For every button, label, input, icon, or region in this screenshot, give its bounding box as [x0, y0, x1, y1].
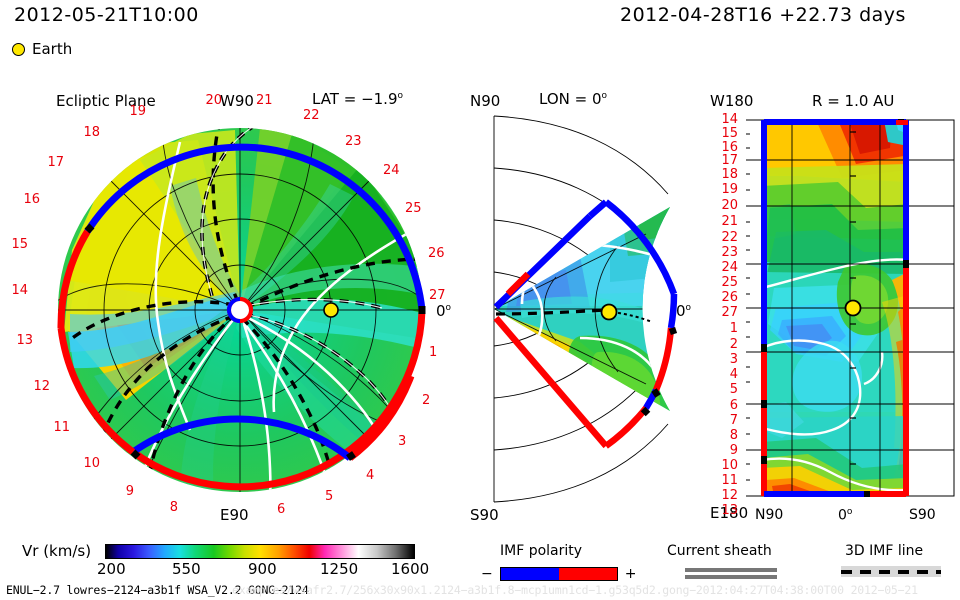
radial-ytick-17: 17 [702, 153, 738, 168]
radial-xtick-0-value: 0 [838, 508, 847, 524]
ecliptic-tick-22: 22 [303, 108, 323, 123]
radial-ytick-5: 5 [702, 382, 738, 397]
radial-ytick-13: 13 [702, 503, 738, 518]
colorbar-tick-550: 550 [172, 560, 201, 578]
ecliptic-tick-1: 1 [429, 345, 443, 360]
colorbar-label: Vr (km/s) [22, 542, 91, 560]
ecliptic-tick-26: 26 [428, 246, 448, 261]
ecliptic-tick-16: 16 [20, 192, 40, 207]
radial-ytick-9: 9 [702, 443, 738, 458]
radial-shell-plot[interactable] [746, 112, 960, 504]
current-sheath-title: Current sheath [667, 543, 772, 559]
ecliptic-tick-17: 17 [44, 155, 64, 170]
ecliptic-tick-2: 2 [422, 393, 436, 408]
ecliptic-tick-27: 27 [429, 288, 449, 303]
radial-ytick-22: 22 [702, 230, 738, 245]
radial-ytick-20: 20 [702, 198, 738, 213]
ecliptic-tick-13: 13 [13, 333, 33, 348]
ecliptic-tick-12: 12 [30, 379, 50, 394]
ecliptic-tick-21: 21 [256, 93, 274, 108]
radial-xtick-0: 0o [838, 507, 852, 524]
polarity-plus-label: + [625, 566, 637, 582]
radial-top-left-label: W180 [710, 92, 753, 110]
radial-ytick-10: 10 [702, 458, 738, 473]
ecliptic-tick-9: 9 [120, 484, 134, 499]
radial-ytick-11: 11 [702, 473, 738, 488]
sheath-line-bottom [685, 575, 777, 579]
ecliptic-tick-11: 11 [50, 420, 70, 435]
imf-polarity-legend: − + [481, 566, 636, 582]
radial-ytick-3: 3 [702, 352, 738, 367]
radial-ytick-23: 23 [702, 245, 738, 260]
radial-ytick-1: 1 [702, 321, 738, 336]
sheath-line-top [685, 568, 777, 572]
radial-ytick-4: 4 [702, 367, 738, 382]
degree-sign: o [686, 303, 692, 313]
ecliptic-tick-5: 5 [325, 489, 339, 504]
imf-line-legend-swatch [841, 566, 941, 577]
radial-ytick-6: 6 [702, 398, 738, 413]
radial-ytick-19: 19 [702, 182, 738, 197]
radial-xtick-n90: N90 [755, 507, 783, 523]
ecliptic-tick-25: 25 [405, 201, 425, 216]
degree-sign: o [602, 91, 608, 101]
ecliptic-tick-8: 8 [164, 500, 178, 515]
polarity-positive-swatch [559, 568, 617, 580]
polarity-minus-label: − [481, 566, 493, 582]
imf-dashed-sample [841, 570, 941, 574]
radial-xtick-s90: S90 [909, 507, 936, 523]
radial-title: R = 1.0 AU [812, 92, 894, 110]
colorbar-tick-900: 900 [248, 560, 277, 578]
radial-ytick-18: 18 [702, 167, 738, 182]
ecliptic-tick-23: 23 [345, 134, 365, 149]
radial-ytick-8: 8 [702, 428, 738, 443]
ecliptic-tick-20: 20 [204, 93, 222, 108]
imf-polarity-title: IMF polarity [500, 543, 582, 559]
ecliptic-tick-24: 24 [383, 163, 403, 178]
ecliptic-tick-14: 14 [8, 283, 28, 298]
radial-ytick-7: 7 [702, 413, 738, 428]
radial-ytick-15: 15 [702, 126, 738, 141]
polarity-color-bar [500, 567, 618, 581]
earth-legend-label: Earth [32, 40, 72, 58]
colorbar [105, 544, 415, 559]
earth-marker-icon [12, 43, 25, 56]
degree-sign: o [847, 507, 853, 517]
radial-ytick-12: 12 [702, 488, 738, 503]
radial-ytick-14: 14 [702, 112, 738, 127]
ecliptic-tick-3: 3 [398, 434, 412, 449]
meridional-plane-plot[interactable] [460, 106, 685, 511]
radial-ytick-26: 26 [702, 290, 738, 305]
ecliptic-tick-10: 10 [80, 456, 100, 471]
current-sheath-legend-swatch [685, 568, 777, 579]
radial-ytick-25: 25 [702, 275, 738, 290]
left-timestamp-title: 2012-05-21T10:00 [14, 4, 199, 26]
watermark-path: examples/wsafr2.7/256x30x90x1.2124−a3b1f… [232, 583, 918, 597]
ecliptic-tick-15: 15 [8, 237, 28, 252]
right-timestamp-title: 2012-04-28T16 +22.73 days [620, 4, 906, 26]
earth-legend: Earth [12, 40, 72, 58]
radial-ytick-2: 2 [702, 337, 738, 352]
ecliptic-tick-4: 4 [366, 468, 380, 483]
ecliptic-tick-19: 19 [126, 104, 146, 119]
radial-ytick-27: 27 [702, 305, 738, 320]
colorbar-tick-1250: 1250 [320, 560, 358, 578]
colorbar-tick-1600: 1600 [391, 560, 429, 578]
ecliptic-tick-18: 18 [80, 125, 100, 140]
radial-ytick-24: 24 [702, 260, 738, 275]
radial-ytick-21: 21 [702, 214, 738, 229]
ecliptic-tick-6: 6 [277, 502, 291, 517]
colorbar-tick-200: 200 [97, 560, 126, 578]
imf-line-title: 3D IMF line [845, 543, 923, 559]
polarity-negative-swatch [501, 568, 559, 580]
